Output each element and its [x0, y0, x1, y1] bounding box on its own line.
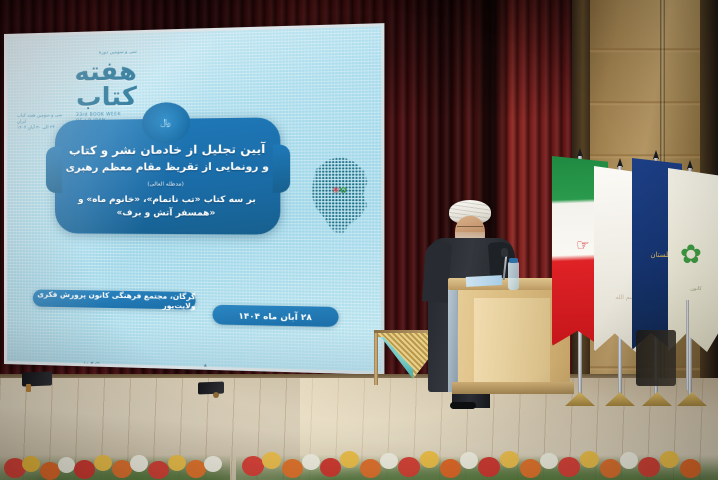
flower — [112, 460, 132, 478]
flower — [204, 456, 222, 472]
flower — [22, 456, 40, 472]
slide-headline-plaque: ﷼ آیین تجلیل از خادمان نشر و کتاب و رونم… — [55, 117, 280, 234]
flower — [440, 459, 461, 478]
flower — [558, 457, 580, 477]
flower — [320, 458, 341, 477]
water-bottle-cap — [509, 258, 518, 263]
photo-scene: سی و سومین دوره هفته کتاب سی و سومین هفت… — [0, 0, 718, 480]
ceremony-emblem-icon: ﷼ — [142, 102, 190, 144]
flower — [540, 453, 558, 469]
speech-notes — [466, 275, 502, 287]
flower — [380, 453, 398, 469]
flower-arrangement-right — [236, 432, 718, 480]
flower — [680, 459, 701, 478]
headline-line-3: بر سه کتاب «تب ناتمام»، «خانوم ماه» و «ه… — [65, 193, 269, 220]
venue-badge: گرگان، مجتمع فرهنگی کانون پرورش فکری ولا… — [33, 289, 196, 309]
screen-surface: سی و سومین دوره هفته کتاب سی و سومین هفت… — [7, 26, 381, 371]
flower — [478, 457, 500, 477]
flower — [186, 460, 206, 478]
mic-stand — [686, 300, 689, 390]
headline-line-2: و رونمایی از تقریظ مقام معظم رهبری (مدظل… — [65, 159, 269, 191]
green-leaf-icon: ✿ — [680, 242, 702, 268]
emblem-glyph: ﷼ — [160, 118, 170, 127]
stage-equipment — [636, 330, 676, 386]
date-badge: ۲۸ آبان ماه ۱۴۰۴ — [213, 305, 339, 327]
iran-map-graphic: ❀✿ — [305, 142, 374, 248]
flower — [500, 451, 519, 468]
projection-screen: سی و سومین دوره هفته کتاب سی و سومین هفت… — [4, 23, 384, 375]
stage-monitor-center — [198, 382, 224, 395]
flower — [520, 459, 541, 478]
headline-line-2-text: و رونمایی از تقریظ مقام معظم رهبری — [66, 161, 269, 173]
flower — [340, 451, 359, 468]
book-week-title-fa: هفته کتاب — [17, 58, 137, 111]
microphone-icon — [501, 248, 508, 257]
flower — [460, 452, 478, 469]
flag-script-green: کانون — [676, 286, 716, 292]
flower — [580, 451, 599, 468]
flower — [638, 457, 660, 477]
stage-monitor-wheel — [213, 392, 219, 398]
flower — [398, 457, 420, 477]
flower — [302, 454, 320, 470]
shoe — [450, 402, 476, 409]
podium-front-inset — [474, 298, 550, 386]
flower — [74, 460, 95, 479]
podium-side-highlight — [448, 284, 457, 392]
flower — [282, 459, 303, 478]
flower — [40, 462, 60, 480]
flower — [660, 451, 679, 468]
water-bottle — [508, 262, 519, 290]
flower — [262, 452, 281, 469]
flower — [148, 461, 169, 479]
map-center-emblem: ❀✿ — [332, 186, 347, 194]
flag-base — [677, 392, 707, 406]
flower-arrangement-left — [0, 432, 230, 480]
pennant-pole — [374, 333, 378, 385]
flower — [130, 455, 148, 472]
flower — [360, 459, 381, 478]
headline-line-2-honorific: (مدظله العالی) — [147, 181, 183, 187]
flower — [242, 456, 264, 476]
flower — [600, 459, 621, 478]
flag-cloth-green: ✿ کانون — [668, 168, 718, 352]
flower — [58, 457, 75, 473]
flower — [620, 452, 638, 469]
stage-monitor-foot — [26, 384, 31, 392]
flower — [168, 455, 186, 471]
glasses — [457, 226, 483, 231]
flower — [420, 451, 439, 468]
flower — [94, 455, 112, 471]
